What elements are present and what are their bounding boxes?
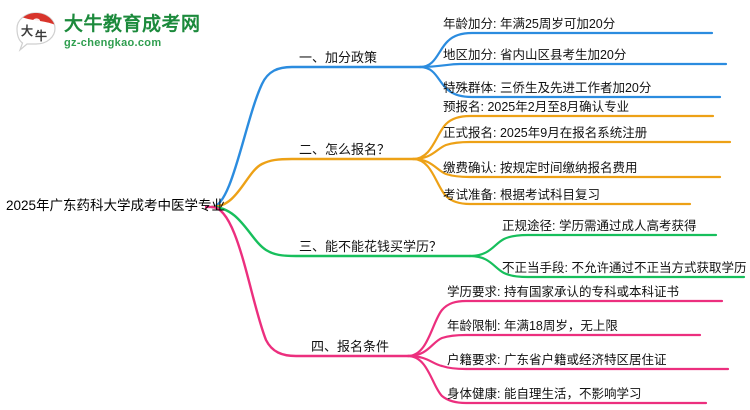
mindmap-leaf-label: 学历要求: 持有国家承认的专科或本科证书	[447, 286, 679, 299]
mindmap-leaf-label: 特殊群体: 三侨生及先进工作者加20分	[443, 82, 651, 95]
mindmap-leaf-label: 户籍要求: 广东省户籍或经济特区居住证	[447, 354, 666, 367]
mindmap-branch-label-3: 三、能不能花钱买学历？	[299, 240, 442, 253]
mindmap-leaf-label: 考试准备: 根据考试科目复习	[443, 189, 600, 202]
mindmap-leaf-label: 正式报名: 2025年9月在报名系统注册	[443, 127, 647, 140]
mindmap-leaf-label: 缴费确认: 按规定时间缴纳报名费用	[443, 162, 637, 175]
mindmap: 2025年广东药科大学成考中医学专业 一、加分政策 年龄加分: 年满25周岁可加…	[0, 0, 750, 410]
mindmap-branch-label-4: 四、报名条件	[311, 340, 389, 353]
mindmap-leaf-label: 年龄加分: 年满25周岁可加20分	[443, 18, 615, 31]
mindmap-branch-label-1: 一、加分政策	[299, 51, 377, 64]
mindmap-root-label: 2025年广东药科大学成考中医学专业	[6, 199, 225, 213]
mindmap-leaf-label: 不正当手段: 不允许通过不正当方式获取学历	[502, 262, 746, 275]
mindmap-branch-label-2: 二、怎么报名？	[299, 143, 390, 156]
mindmap-leaf-label: 身体健康: 能自理生活，不影响学习	[447, 388, 641, 401]
mindmap-leaf-label: 地区加分: 省内山区县考生加20分	[443, 49, 626, 62]
mindmap-leaf-label: 正规途径: 学历需通过成人高考获得	[502, 220, 696, 233]
mindmap-leaf-label: 年龄限制: 年满18周岁，无上限	[447, 320, 618, 333]
mindmap-leaf-label: 预报名: 2025年2月至8月确认专业	[443, 101, 629, 114]
